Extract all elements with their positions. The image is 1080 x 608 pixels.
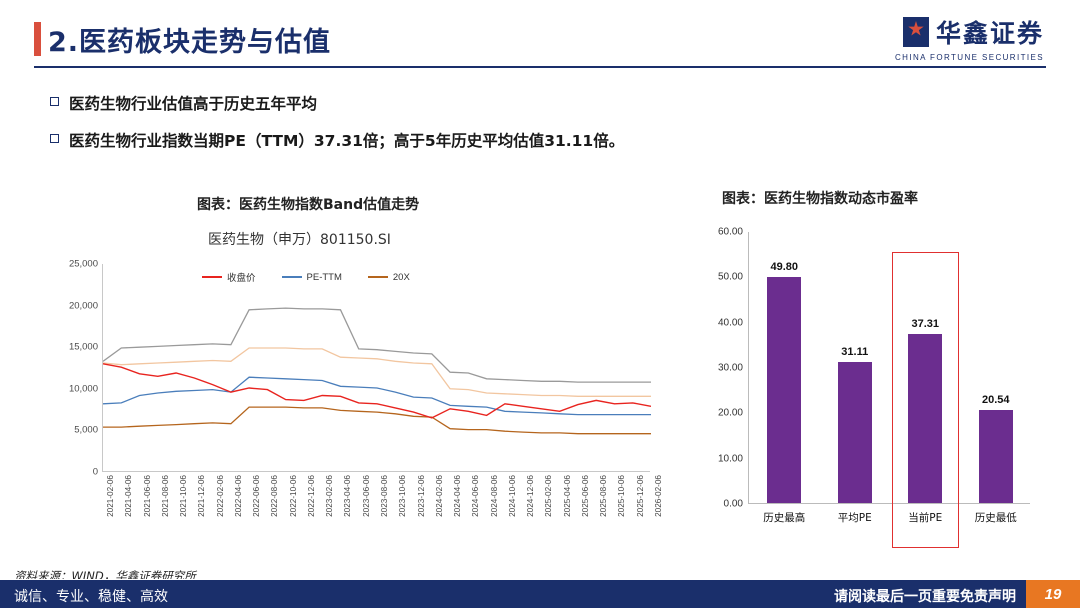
- left-chart-x-tick: 2023-04-06: [343, 475, 352, 517]
- logo-english-name: CHINA FORTUNE SECURITIES: [895, 53, 1044, 62]
- bar: [767, 277, 801, 503]
- left-chart-x-tick: 2025-08-06: [599, 475, 608, 517]
- left-chart-y-tick: 10,000: [69, 383, 98, 394]
- left-chart-series-line: [103, 348, 651, 396]
- left-chart-x-tick: 2025-06-06: [581, 475, 590, 517]
- left-chart-y-tick: 0: [93, 467, 98, 478]
- page-header: 2.医药板块走势与估值 华鑫证券 CHINA FORTUNE SECURITIE…: [0, 0, 1080, 72]
- bar-category-label: 历史最高: [763, 510, 805, 525]
- bar-value-label: 31.11: [841, 346, 868, 358]
- left-chart-x-tick: 2021-12-06: [197, 475, 206, 517]
- page-number: 19: [1026, 580, 1080, 608]
- left-chart-x-tick: 2024-08-06: [490, 475, 499, 517]
- header-divider: [34, 66, 1046, 68]
- bar-category-label: 历史最低: [975, 510, 1017, 525]
- bullet-item: 医药生物行业指数当期PE（TTM）37.31倍；高于5年历史平均估值31.11倍…: [50, 129, 624, 151]
- dynamic-pe-bar-chart: 0.0010.0020.0030.0040.0050.0060.0049.80历…: [690, 218, 1050, 558]
- left-chart-x-tick: 2024-12-06: [526, 475, 535, 517]
- left-chart-caption: 图表：医药生物指数Band估值走势: [197, 194, 419, 214]
- band-valuation-line-chart: 收盘价PE-TTM20X 05,00010,00015,00020,00025,…: [30, 252, 670, 552]
- bar: [979, 410, 1013, 503]
- left-chart-y-tick: 20,000: [69, 300, 98, 311]
- left-chart-x-tick: 2023-08-06: [380, 475, 389, 517]
- left-chart-x-tick: 2023-06-06: [362, 475, 371, 517]
- left-chart-x-tick: 2023-12-06: [417, 475, 426, 517]
- company-logo: 华鑫证券 CHINA FORTUNE SECURITIES: [884, 14, 1044, 62]
- left-chart-x-tick: 2024-02-06: [435, 475, 444, 517]
- bullet-text: 医药生物行业估值高于历史五年平均: [69, 92, 317, 114]
- right-chart-y-tick: 60.00: [718, 227, 743, 238]
- left-chart-x-tick: 2021-10-06: [179, 475, 188, 517]
- left-chart-x-tick: 2025-02-06: [544, 475, 553, 517]
- left-chart-x-tick: 2025-10-06: [617, 475, 626, 517]
- right-chart-y-tick: 20.00: [718, 408, 743, 419]
- left-chart-x-tick: 2022-02-06: [216, 475, 225, 517]
- left-chart-x-tick: 2021-02-06: [106, 475, 115, 517]
- bar-value-label: 20.54: [982, 394, 1010, 406]
- left-chart-series-svg: [103, 264, 651, 472]
- left-chart-series-line: [103, 308, 651, 382]
- footer-disclaimer: 请阅读最后一页重要免责声明: [834, 586, 1016, 606]
- logo-chinese-name: 华鑫证券: [936, 14, 1044, 50]
- bar-category-label: 平均PE: [838, 510, 872, 525]
- left-chart-x-tick: 2022-12-06: [307, 475, 316, 517]
- left-chart-plot-area: 05,00010,00015,00020,00025,0002021-02-06…: [102, 264, 650, 472]
- left-chart-x-tick: 2025-04-06: [563, 475, 572, 517]
- left-chart-x-tick: 2025-12-06: [636, 475, 645, 517]
- current-pe-highlight-box: [892, 252, 959, 548]
- left-chart-x-tick: 2024-04-06: [453, 475, 462, 517]
- left-chart-title: 医药生物（申万）801150.SI: [208, 229, 391, 249]
- left-chart-x-tick: 2022-04-06: [234, 475, 243, 517]
- left-chart-y-tick: 15,000: [69, 342, 98, 353]
- page-footer: 诚信、专业、稳健、高效 请阅读最后一页重要免责声明 19: [0, 580, 1080, 608]
- bullet-item: 医药生物行业估值高于历史五年平均: [50, 92, 317, 114]
- left-chart-x-tick: 2022-06-06: [252, 475, 261, 517]
- page-title: 2.医药板块走势与估值: [48, 20, 331, 59]
- left-chart-x-tick: 2024-10-06: [508, 475, 517, 517]
- title-accent-bar: [34, 22, 41, 56]
- left-chart-x-tick: 2022-10-06: [289, 475, 298, 517]
- right-chart-caption: 图表：医药生物指数动态市盈率: [722, 188, 918, 208]
- logo-mark-icon: [903, 17, 929, 47]
- left-chart-x-tick: 2023-10-06: [398, 475, 407, 517]
- bullet-square-icon: [50, 134, 59, 143]
- bullet-text: 医药生物行业指数当期PE（TTM）37.31倍；高于5年历史平均估值31.11倍…: [69, 129, 624, 151]
- bar-value-label: 49.80: [770, 261, 798, 273]
- bar: [838, 362, 872, 503]
- left-chart-x-tick: 2026-02-06: [654, 475, 663, 517]
- left-chart-x-tick: 2024-06-06: [471, 475, 480, 517]
- right-chart-y-tick: 40.00: [718, 317, 743, 328]
- left-chart-x-tick: 2021-06-06: [143, 475, 152, 517]
- left-chart-x-tick: 2021-08-06: [161, 475, 170, 517]
- right-chart-y-tick: 30.00: [718, 363, 743, 374]
- bullet-square-icon: [50, 97, 59, 106]
- left-chart-x-tick: 2021-04-06: [124, 475, 133, 517]
- right-chart-y-tick: 10.00: [718, 453, 743, 464]
- right-chart-y-tick: 0.00: [724, 499, 743, 510]
- right-chart-plot-area: 0.0010.0020.0030.0040.0050.0060.0049.80历…: [748, 232, 1030, 504]
- footer-slogan: 诚信、专业、稳健、高效: [14, 586, 168, 606]
- left-chart-y-tick: 5,000: [74, 425, 98, 436]
- left-chart-series-line: [103, 407, 651, 434]
- left-chart-x-tick: 2023-02-06: [325, 475, 334, 517]
- left-chart-x-tick: 2022-08-06: [270, 475, 279, 517]
- right-chart-y-tick: 50.00: [718, 272, 743, 283]
- left-chart-y-tick: 25,000: [69, 259, 98, 270]
